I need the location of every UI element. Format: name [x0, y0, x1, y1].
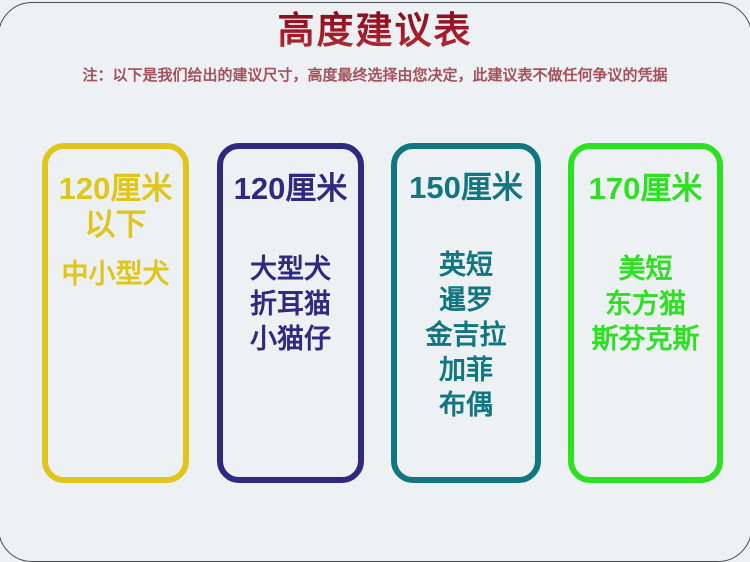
card-head-line: 以下 [48, 207, 183, 243]
size-card-0: 120厘米 以下 中小型犬 [42, 143, 189, 483]
size-card-3: 170厘米 美短 东方猫 斯芬克斯 [568, 143, 723, 483]
card-item: 布偶 [397, 388, 535, 423]
card-items-1: 大型犬 折耳猫 小猫仔 [223, 252, 358, 357]
disclaimer-note: 注：以下是我们给出的建议尺寸，高度最终选择由您决定，此建议表不做任何争议的凭据 [0, 64, 750, 85]
card-item: 东方猫 [574, 287, 717, 322]
card-content-3: 170厘米 美短 东方猫 斯芬克斯 [574, 171, 717, 357]
card-item: 暹罗 [397, 283, 535, 318]
card-heading-0: 120厘米 以下 [48, 171, 183, 243]
card-items-2: 英短 暹罗 金吉拉 加菲 布偶 [397, 248, 535, 423]
size-card-1: 120厘米 大型犬 折耳猫 小猫仔 [217, 143, 364, 483]
card-item: 折耳猫 [223, 287, 358, 322]
card-item: 美短 [574, 252, 717, 287]
card-item: 小猫仔 [223, 322, 358, 357]
card-content-1: 120厘米 大型犬 折耳猫 小猫仔 [223, 171, 358, 357]
card-item: 中小型犬 [48, 257, 183, 292]
card-heading-1: 120厘米 [223, 171, 358, 207]
card-head-line: 120厘米 [48, 171, 183, 207]
card-head-line: 120厘米 [223, 171, 358, 207]
card-item: 金吉拉 [397, 318, 535, 353]
card-head-line: 150厘米 [397, 170, 535, 206]
card-item: 大型犬 [223, 252, 358, 287]
card-items-3: 美短 东方猫 斯芬克斯 [574, 252, 717, 357]
card-content-2: 150厘米 英短 暹罗 金吉拉 加菲 布偶 [397, 170, 535, 423]
size-card-2: 150厘米 英短 暹罗 金吉拉 加菲 布偶 [391, 143, 541, 483]
card-item: 加菲 [397, 353, 535, 388]
card-heading-3: 170厘米 [574, 171, 717, 207]
card-item: 斯芬克斯 [574, 322, 717, 357]
card-heading-2: 150厘米 [397, 170, 535, 206]
height-recommendation-chart: 高度建议表 注：以下是我们给出的建议尺寸，高度最终选择由您决定，此建议表不做任何… [0, 0, 750, 515]
page-title: 高度建议表 [0, 8, 750, 54]
card-list: 120厘米 以下 中小型犬 120厘米 大型犬 折耳猫 小猫仔 [0, 143, 750, 488]
card-item: 英短 [397, 248, 535, 283]
card-content-0: 120厘米 以下 中小型犬 [48, 171, 183, 292]
card-items-0: 中小型犬 [48, 257, 183, 292]
card-head-line: 170厘米 [574, 171, 717, 207]
